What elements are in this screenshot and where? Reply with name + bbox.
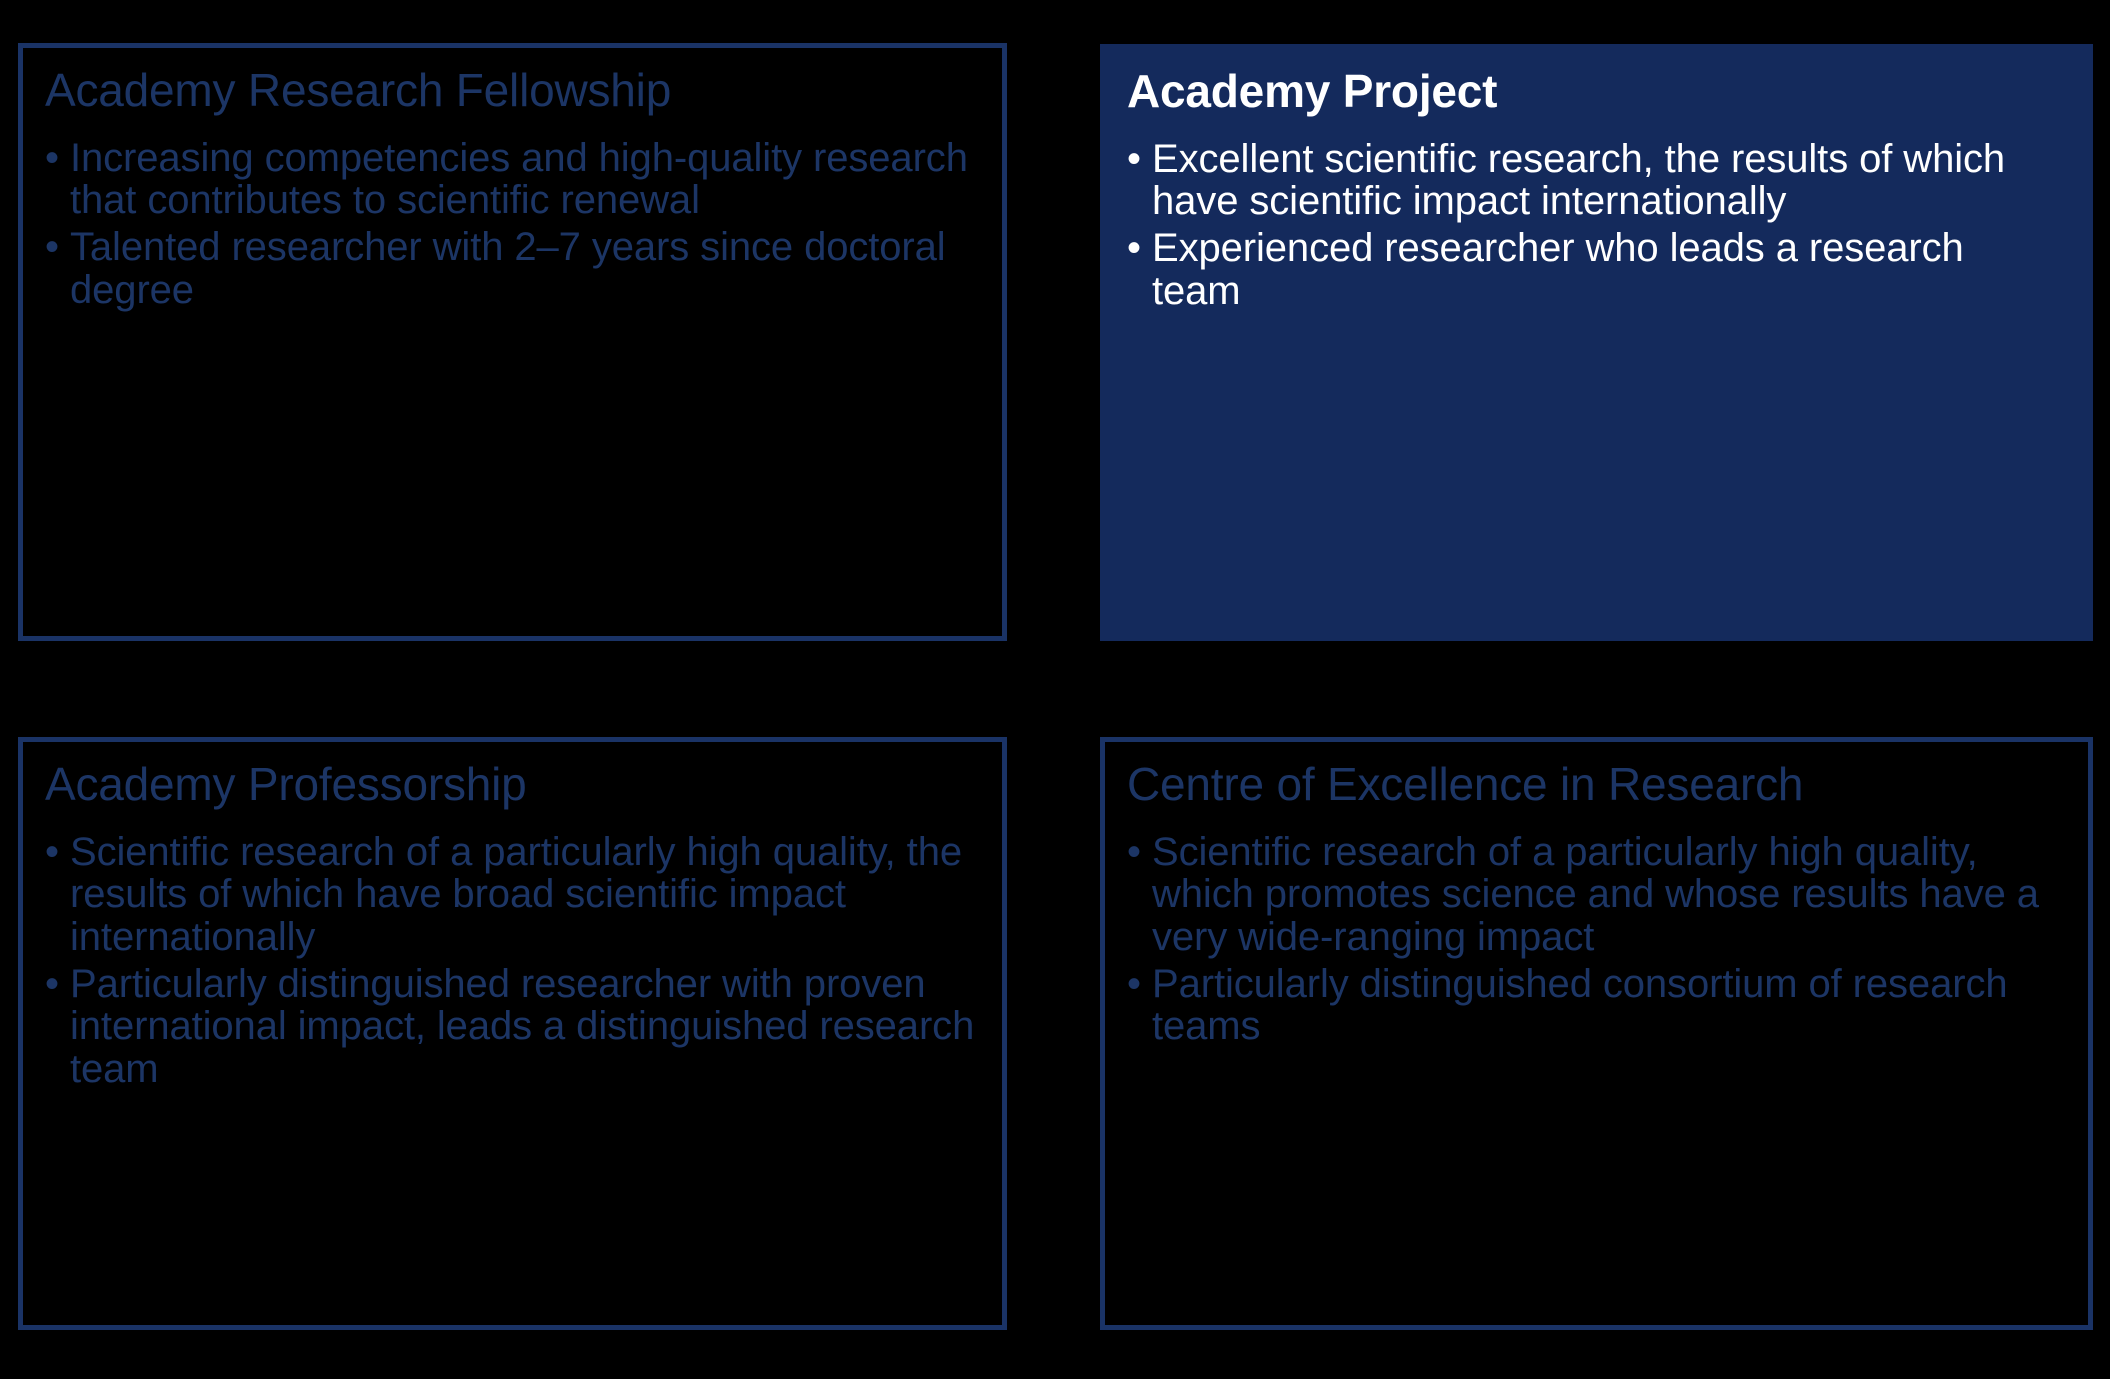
- bullet-item: Scientific research of a particularly hi…: [45, 831, 976, 959]
- bullet-list-centre-of-excellence-in-research: Scientific research of a particularly hi…: [1127, 831, 2062, 1048]
- bullet-list-academy-professorship: Scientific research of a particularly hi…: [45, 831, 976, 1091]
- bullet-list-academy-research-fellowship: Increasing competencies and high-quality…: [45, 137, 976, 311]
- bullet-text: Excellent scientific research, the resul…: [1152, 137, 2005, 224]
- card-academy-professorship: Academy Professorship Scientific researc…: [18, 737, 1007, 1330]
- bullet-item: Experienced researcher who leads a resea…: [1127, 227, 2062, 312]
- funding-instruments-diagram: Academy Research Fellowship Increasing c…: [0, 0, 2110, 1379]
- bullet-text: Scientific research of a particularly hi…: [70, 830, 962, 959]
- bullet-text: Increasing competencies and high-quality…: [70, 136, 968, 223]
- card-title-academy-professorship: Academy Professorship: [45, 760, 976, 809]
- bullet-text: Scientific research of a particularly hi…: [1152, 830, 2039, 959]
- bullet-item: Particularly distinguished consortium of…: [1127, 963, 2062, 1048]
- bullet-item: Talented researcher with 2–7 years since…: [45, 226, 976, 311]
- bullet-text: Particularly distinguished consortium of…: [1152, 962, 2008, 1049]
- bullet-text: Talented researcher with 2–7 years since…: [70, 225, 946, 312]
- bullet-item: Excellent scientific research, the resul…: [1127, 138, 2062, 223]
- card-title-centre-of-excellence-in-research: Centre of Excellence in Research: [1127, 760, 2062, 809]
- bullet-text: Experienced researcher who leads a resea…: [1152, 226, 1964, 313]
- card-centre-of-excellence-in-research: Centre of Excellence in Research Scienti…: [1100, 737, 2093, 1330]
- bullet-item: Increasing competencies and high-quality…: [45, 137, 976, 222]
- bullet-item: Particularly distinguished researcher wi…: [45, 963, 976, 1091]
- card-academy-research-fellowship: Academy Research Fellowship Increasing c…: [18, 43, 1007, 641]
- card-academy-project: Academy Project Excellent scientific res…: [1100, 44, 2093, 641]
- card-title-academy-project: Academy Project: [1127, 67, 2062, 116]
- bullet-list-academy-project: Excellent scientific research, the resul…: [1127, 138, 2062, 312]
- bullet-text: Particularly distinguished researcher wi…: [70, 962, 974, 1091]
- card-title-academy-research-fellowship: Academy Research Fellowship: [45, 66, 976, 115]
- bullet-item: Scientific research of a particularly hi…: [1127, 831, 2062, 959]
